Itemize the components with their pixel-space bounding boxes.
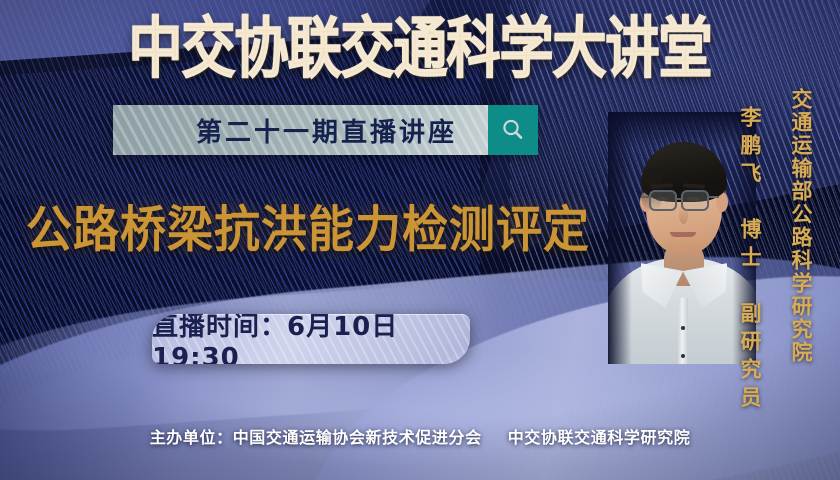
broadcast-time-label: 直播时间：6月10日19:30 xyxy=(152,314,470,364)
episode-label: 第二十一期直播讲座 xyxy=(144,112,457,149)
organizer-footer: 主办单位：中国交通运输协会新技术促进分会中交协联交通科学研究院 xyxy=(0,424,840,448)
episode-banner-body: 第二十一期直播讲座 xyxy=(113,105,488,155)
organizer-primary: 主办单位：中国交通运输协会新技术促进分会 xyxy=(150,428,482,447)
live-lecture-poster: 中交协联交通科学大讲堂 第二十一期直播讲座 公路桥梁抗洪能力检测评定 直播时间：… xyxy=(0,0,840,480)
lecture-topic-title: 公路桥梁抗洪能力检测评定 xyxy=(26,205,590,254)
broadcast-time-badge: 直播时间：6月10日19:30 xyxy=(152,314,470,364)
page-title: 中交协联交通科学大讲堂 xyxy=(0,16,840,82)
search-icon xyxy=(500,117,526,143)
speaker-name-and-title: 李鹏飞 博士 副研究员 xyxy=(735,106,765,414)
search-button[interactable] xyxy=(488,105,538,155)
episode-banner: 第二十一期直播讲座 xyxy=(113,105,538,155)
speaker-organization: 交通运输部公路科学研究院 xyxy=(786,88,816,364)
organizer-secondary: 中交协联交通科学研究院 xyxy=(508,428,691,447)
